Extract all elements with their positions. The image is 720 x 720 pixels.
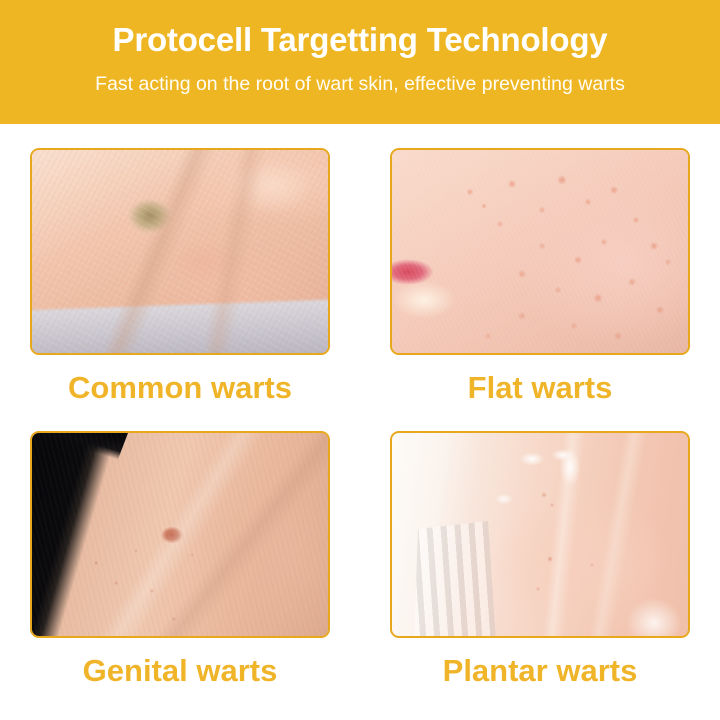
header-banner: Protocell Targetting Technology Fast act…	[0, 0, 720, 124]
flat-warts-card	[390, 148, 690, 355]
wart-type-gallery: Common warts Flat warts Genital warts Pl…	[0, 124, 720, 720]
common-warts-label: Common warts	[68, 369, 292, 407]
genital-warts-card	[30, 431, 330, 638]
page-subtitle: Fast acting on the root of wart skin, ef…	[95, 71, 625, 97]
product-infographic: Protocell Targetting Technology Fast act…	[0, 0, 720, 720]
plantar-warts-foot-photo	[392, 433, 688, 636]
genital-warts-neck-photo	[32, 433, 328, 636]
common-warts-card	[30, 148, 330, 355]
gallery-item-flat-warts: Flat warts	[360, 124, 720, 407]
common-warts-hand-photo	[32, 150, 328, 353]
gallery-item-common-warts: Common warts	[0, 124, 360, 407]
page-title: Protocell Targetting Technology	[113, 20, 608, 60]
genital-warts-label: Genital warts	[83, 652, 278, 690]
plantar-warts-label: Plantar warts	[443, 652, 638, 690]
plantar-warts-card	[390, 431, 690, 638]
flat-warts-face-photo	[392, 150, 688, 353]
flat-warts-label: Flat warts	[468, 369, 613, 407]
gallery-item-plantar-warts: Plantar warts	[360, 407, 720, 690]
gallery-item-genital-warts: Genital warts	[0, 407, 360, 690]
